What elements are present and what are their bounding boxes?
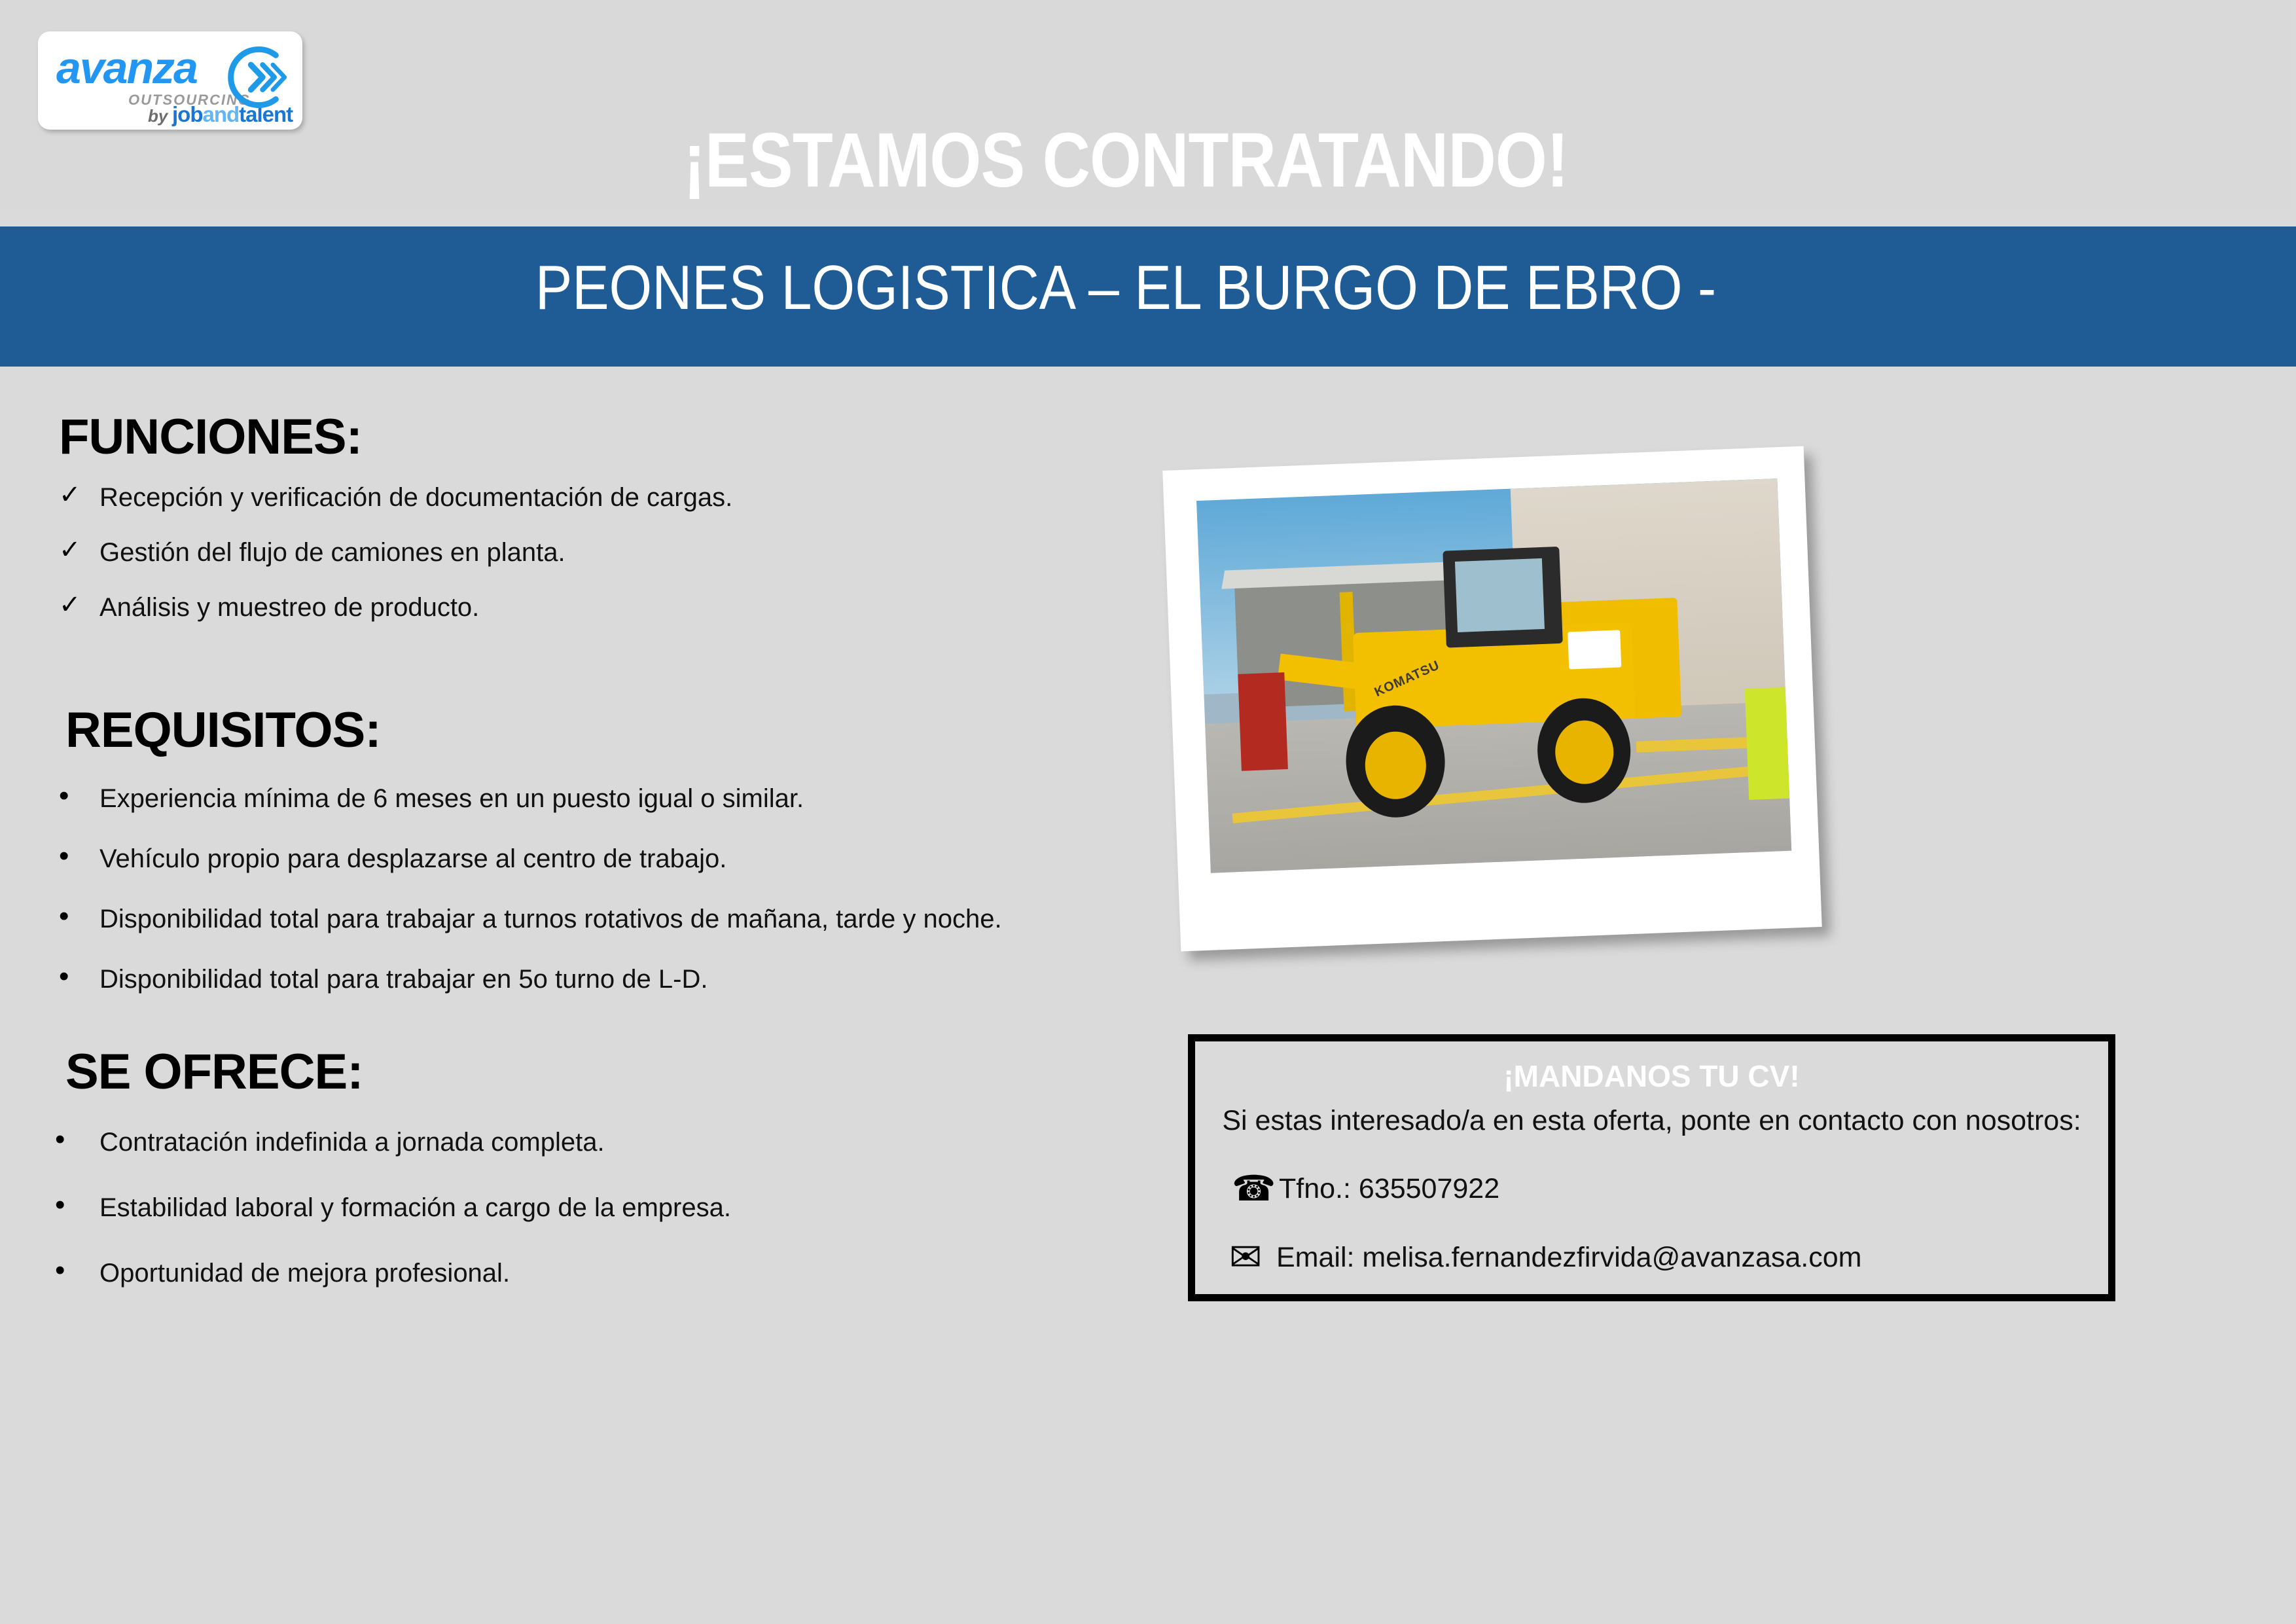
list-item: ✓ Gestión del flujo de camiones en plant… [59, 539, 732, 566]
contact-email-label[interactable]: Email: melisa.fernandezfirvida@avanzasa.… [1276, 1244, 1861, 1272]
photo-image: KOMATSU [1196, 478, 1791, 873]
list-item-label: Contratación indefinida a jornada comple… [99, 1128, 605, 1157]
photo-hi-vis-vest [1745, 687, 1790, 800]
company-logo: avanza OUTSOURCING by jobandtalent [38, 31, 302, 130]
list-item: • Estabilidad laboral y formación a carg… [46, 1195, 731, 1221]
bullet-icon: • [55, 1256, 65, 1285]
job-photo: KOMATSU [1162, 446, 1821, 951]
job-title: PEONES LOGISTICA – EL BURGO DE EBRO - [135, 257, 2116, 319]
list-item-label: Experiencia mínima de 6 meses en un pues… [99, 784, 804, 813]
avanza-circle-chevrons-icon [219, 41, 292, 114]
list-item: • Disponibilidad total para trabajar a t… [59, 906, 1002, 932]
check-icon: ✓ [59, 482, 81, 508]
list-item-label: Disponibilidad total para trabajar a tur… [99, 905, 1002, 933]
list-item: • Disponibilidad total para trabajar en … [59, 966, 1002, 992]
list-item-label: Análisis y muestreo de producto. [99, 593, 479, 622]
page-title: ¡ESTAMOS CONTRATANDO! [158, 122, 2094, 199]
contact-phone-row[interactable]: ☎ Tfno.: 635507922 [1232, 1171, 1499, 1206]
list-item: ✓ Análisis y muestreo de producto. [59, 594, 732, 621]
contact-box: ¡MANDANOS TU CV! Si estas interesado/a e… [1188, 1034, 2115, 1301]
logo-partner-job: job [172, 102, 202, 126]
list-item: • Contratación indefinida a jornada comp… [46, 1129, 731, 1155]
se-ofrece-list: • Contratación indefinida a jornada comp… [46, 1129, 731, 1326]
bullet-icon: • [55, 1191, 65, 1219]
section-heading-se-ofrece: SE OFRECE: [65, 1047, 363, 1097]
list-item-label: Oportunidad de mejora profesional. [99, 1259, 510, 1288]
list-item-label: Disponibilidad total para trabajar en 5o… [99, 965, 708, 994]
photo-ground [1205, 702, 1791, 873]
job-poster: ¡ESTAMOS CONTRATANDO! avanza OUTSOURCING… [0, 0, 2296, 1624]
contact-title: ¡MANDANOS TU CV! [1195, 1061, 2108, 1091]
section-heading-funciones: FUNCIONES: [59, 412, 362, 462]
bullet-icon: • [59, 902, 69, 931]
list-item: • Oportunidad de mejora profesional. [46, 1260, 731, 1286]
bullet-icon: • [59, 782, 69, 810]
envelope-icon: ✉ [1229, 1238, 1276, 1277]
list-item: ✓ Recepción y verificación de documentac… [59, 484, 732, 511]
check-icon: ✓ [59, 537, 81, 563]
contact-subtitle: Si estas interesado/a en esta oferta, po… [1195, 1107, 2108, 1135]
photo-attachment [1238, 673, 1289, 772]
list-item: • Experiencia mínima de 6 meses en un pu… [59, 785, 1002, 812]
job-title-banner: PEONES LOGISTICA – EL BURGO DE EBRO - [0, 226, 2296, 367]
section-heading-requisitos: REQUISITOS: [65, 706, 381, 755]
requisitos-list: • Experiencia mínima de 6 meses en un pu… [59, 785, 1002, 1026]
list-item: • Vehículo propio para desplazarse al ce… [59, 846, 1002, 872]
photo-cab-glass [1455, 558, 1545, 632]
list-item-label: Vehículo propio para desplazarse al cent… [99, 844, 726, 873]
list-item-label: Gestión del flujo de camiones en planta. [99, 538, 565, 567]
telephone-icon: ☎ [1232, 1171, 1279, 1206]
list-item-label: Estabilidad laboral y formación a cargo … [99, 1193, 731, 1222]
bullet-icon: • [59, 962, 69, 991]
contact-phone-label[interactable]: Tfno.: 635507922 [1279, 1175, 1499, 1203]
bullet-icon: • [59, 842, 69, 871]
list-item-label: Recepción y verificación de documentació… [99, 483, 732, 512]
logo-wordmark: avanza [56, 46, 197, 90]
bullet-icon: • [55, 1125, 65, 1154]
check-icon: ✓ [59, 592, 81, 618]
logo-by-label: by [148, 106, 168, 126]
funciones-list: ✓ Recepción y verificación de documentac… [59, 484, 732, 649]
photo-cero-sticker [1568, 630, 1622, 669]
contact-email-row[interactable]: ✉ Email: melisa.fernandezfirvida@avanzas… [1229, 1238, 1861, 1277]
